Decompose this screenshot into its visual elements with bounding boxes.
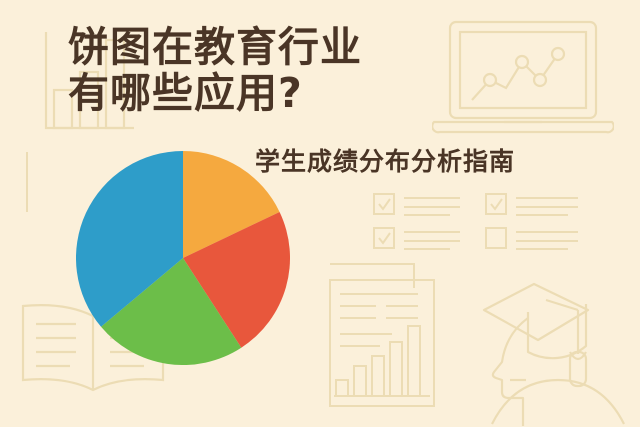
pie-chart <box>76 151 290 365</box>
pie-chart-svg <box>76 151 290 365</box>
divider-line-icon <box>22 152 32 212</box>
page-title: 饼图在教育行业 有哪些应用? <box>68 24 468 116</box>
poster-canvas: 饼图在教育行业 有哪些应用? 学生成绩分布分析指南 <box>0 0 640 427</box>
checklist-icon <box>484 192 600 254</box>
report-document-bar-chart-icon <box>328 262 440 410</box>
page-subtitle: 学生成绩分布分析指南 <box>255 147 515 177</box>
checklist-icon <box>372 192 472 254</box>
title-line-2: 有哪些应用? <box>68 70 468 116</box>
title-line-1: 饼图在教育行业 <box>68 24 468 70</box>
graduate-student-icon <box>482 252 638 427</box>
